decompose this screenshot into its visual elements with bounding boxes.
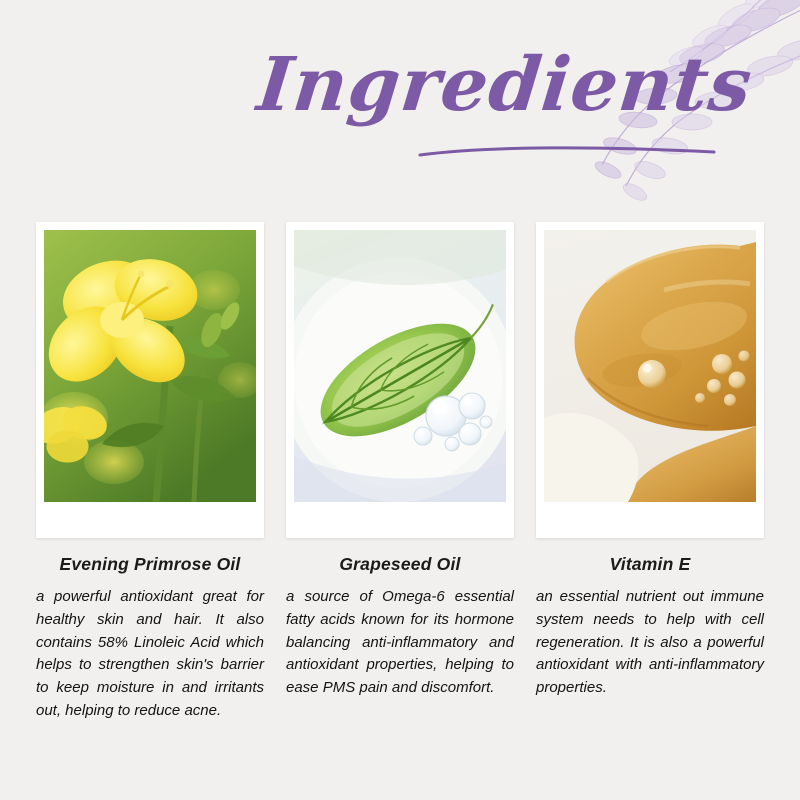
page-title: Ingredients bbox=[254, 48, 756, 122]
leaf-branch-decoration bbox=[470, 0, 800, 220]
photo-frame bbox=[536, 222, 764, 538]
photo-frame bbox=[286, 222, 514, 538]
grapeseed-oil-photo bbox=[294, 230, 506, 502]
ingredient-card: Vitamin E an essential nutrient out immu… bbox=[536, 222, 764, 723]
ingredient-title: Vitamin E bbox=[536, 554, 764, 575]
ingredient-description: a powerful antioxidant great for healthy… bbox=[36, 586, 264, 723]
title-block: Ingredients bbox=[0, 48, 800, 178]
ingredient-card: Grapeseed Oil a source of Omega-6 essent… bbox=[286, 222, 514, 723]
ingredient-cards: Evening Primrose Oil a powerful antioxid… bbox=[0, 222, 800, 723]
title-underline-swash bbox=[418, 144, 718, 158]
ingredient-title: Grapeseed Oil bbox=[286, 554, 514, 575]
ingredient-card: Evening Primrose Oil a powerful antioxid… bbox=[36, 222, 264, 723]
vitamin-e-oil-photo bbox=[544, 230, 756, 502]
photo-frame bbox=[36, 222, 264, 538]
ingredient-title: Evening Primrose Oil bbox=[36, 554, 264, 575]
evening-primrose-flower-photo bbox=[44, 230, 256, 502]
ingredient-description: a source of Omega-6 essential fatty acid… bbox=[286, 586, 514, 700]
ingredient-description: an essential nutrient out immune system … bbox=[536, 586, 764, 700]
